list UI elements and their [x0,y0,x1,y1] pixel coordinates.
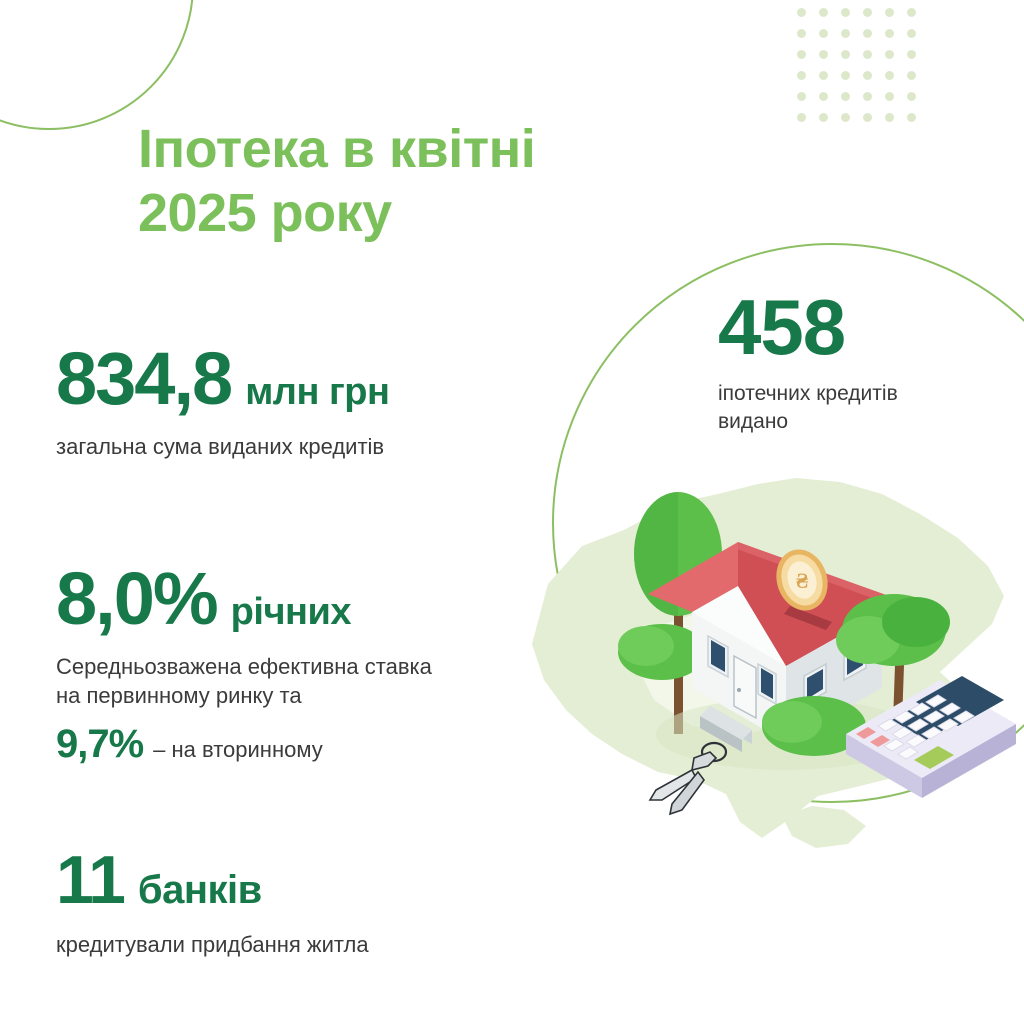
svg-text:₴: ₴ [796,568,809,593]
dot [819,71,828,80]
dot [863,113,872,122]
page-title: Іпотека в квітні 2025 року [138,118,658,245]
dot [841,29,850,38]
stat-loans-issued: 458 іпотечних кредитів видано [718,288,978,437]
dot [863,50,872,59]
stat-total-amount-unit: млн грн [245,371,389,414]
dot [797,8,806,17]
stat-banks-count-caption: кредитували придбання житла [56,930,526,959]
stat-loans-issued-caption-line-2: видано [718,408,978,436]
house-illustration: ₴ [496,434,1024,874]
stat-banks-count: 11 банків кредитували придбання житла [56,846,526,959]
page-title-line-1: Іпотека в квітні [138,118,658,182]
decorative-dot-grid [797,8,929,134]
dot [885,92,894,101]
dot [907,113,916,122]
dot [907,50,916,59]
stat-interest-rate-caption-line-2: на первинному ринку та [56,681,526,710]
stat-interest-rate-caption: Середньозважена ефективна ставка на перв… [56,652,526,710]
stat-total-amount-value: 834,8 [56,342,231,416]
infographic-canvas: Іпотека в квітні 2025 року 834,8 млн грн… [0,0,1024,1024]
dot [841,92,850,101]
stat-banks-count-value-row: 11 банків [56,846,526,914]
dot [819,92,828,101]
dot [797,92,806,101]
dot [819,8,828,17]
stat-secondary-market-rate-value: 9,7% [56,722,143,767]
dot [863,92,872,101]
dot [797,29,806,38]
stat-interest-rate-value: 8,0% [56,562,217,636]
dot [907,71,916,80]
dot [885,50,894,59]
stat-total-amount: 834,8 млн грн загальна сума виданих кред… [56,342,526,461]
page-title-line-2: 2025 року [138,182,658,246]
dot [885,29,894,38]
dot [841,50,850,59]
dot [885,71,894,80]
decorative-arc-top-left [0,0,194,130]
dot [885,8,894,17]
dot [797,50,806,59]
stat-interest-rate-value-row: 8,0% річних [56,562,526,636]
dot [907,92,916,101]
dot [885,113,894,122]
dot [907,29,916,38]
stat-secondary-market-rate-caption: – на вторинному [153,737,323,763]
dot [819,29,828,38]
stat-interest-rate-unit: річних [231,591,351,634]
stat-banks-count-value: 11 [56,846,124,914]
dot [797,113,806,122]
dot [841,8,850,17]
dot [841,113,850,122]
stat-total-amount-value-row: 834,8 млн грн [56,342,526,416]
stat-interest-rate: 8,0% річних Середньозважена ефективна ст… [56,562,526,767]
dot [863,8,872,17]
stat-interest-rate-caption-line-1: Середньозважена ефективна ставка [56,652,526,681]
stat-banks-count-unit: банків [138,868,262,913]
dot [819,113,828,122]
dot [819,50,828,59]
stat-loans-issued-caption-line-1: іпотечних кредитів [718,380,978,408]
stat-loans-issued-value: 458 [718,288,978,366]
stat-total-amount-caption: загальна сума виданих кредитів [56,432,526,461]
dot [797,71,806,80]
dot [841,71,850,80]
stat-loans-issued-caption: іпотечних кредитів видано [718,380,978,437]
dot [863,71,872,80]
dot [907,8,916,17]
stat-secondary-market-rate: 9,7% – на вторинному [56,722,526,767]
dot [863,29,872,38]
